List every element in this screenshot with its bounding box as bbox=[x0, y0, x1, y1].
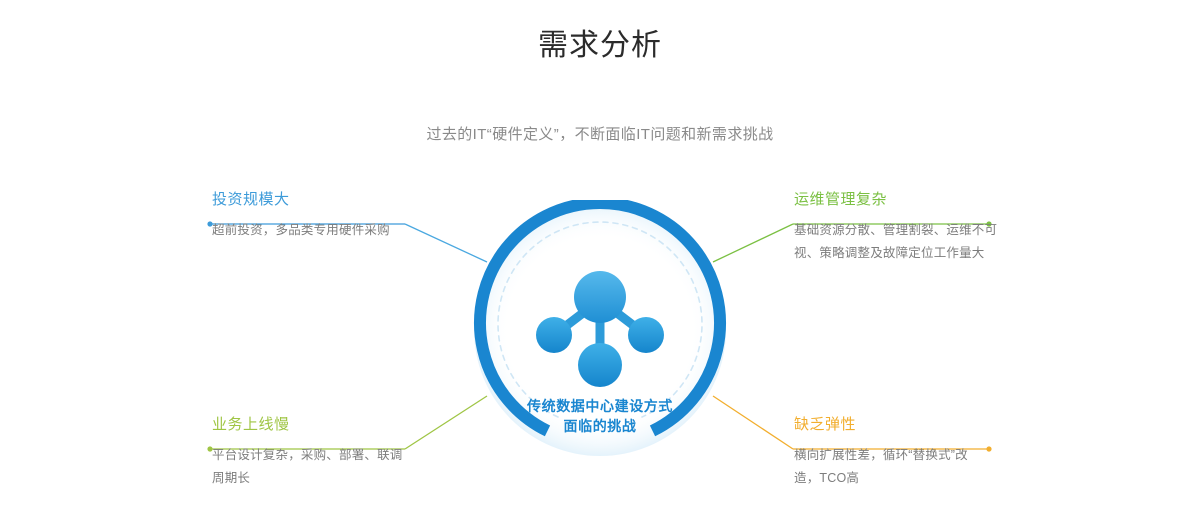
callout-investment-scale[interactable]: 投资规模大 超前投资，多品类专用硬件采购 bbox=[208, 190, 423, 242]
center-caption: 传统数据中心建设方式 面临的挑战 bbox=[470, 396, 730, 436]
callout-title-investment-scale: 投资规模大 bbox=[212, 190, 423, 210]
callout-desc-line: 周期长 bbox=[212, 467, 423, 490]
callout-title-slow-rollout: 业务上线慢 bbox=[212, 415, 423, 435]
callout-desc-line: 造，TCO高 bbox=[794, 467, 1005, 490]
callout-desc-line: 基础资源分散、管理割裂、运维不可 bbox=[794, 219, 1005, 242]
callout-desc-slow-rollout: 平台设计复杂，采购、部署、联调 周期长 bbox=[212, 444, 423, 490]
callout-desc-investment-scale: 超前投资，多品类专用硬件采购 bbox=[212, 219, 423, 242]
callout-ops-complexity[interactable]: 运维管理复杂 基础资源分散、管理割裂、运维不可 视、策略调整及故障定位工作量大 bbox=[790, 190, 1005, 265]
slide-canvas: 需求分析 过去的IT“硬件定义”，不断面临IT问题和新需求挑战 bbox=[0, 0, 1200, 519]
callout-desc-lack-elasticity: 横向扩展性差，循环“替换式”改 造，TCO高 bbox=[794, 444, 1005, 490]
callout-desc-line: 平台设计复杂，采购、部署、联调 bbox=[212, 444, 423, 467]
callout-lack-elasticity[interactable]: 缺乏弹性 横向扩展性差，循环“替换式”改 造，TCO高 bbox=[790, 415, 1005, 490]
callout-title-lack-elasticity: 缺乏弹性 bbox=[794, 415, 1005, 435]
callout-desc-line: 视、策略调整及故障定位工作量大 bbox=[794, 242, 1005, 265]
callout-slow-rollout[interactable]: 业务上线慢 平台设计复杂，采购、部署、联调 周期长 bbox=[208, 415, 423, 490]
page-title: 需求分析 bbox=[0, 26, 1200, 66]
callout-desc-line: 横向扩展性差，循环“替换式”改 bbox=[794, 444, 1005, 467]
callout-desc-line: 超前投资，多品类专用硬件采购 bbox=[212, 219, 423, 242]
callout-title-ops-complexity: 运维管理复杂 bbox=[794, 190, 1005, 210]
center-caption-line1: 传统数据中心建设方式 bbox=[470, 396, 730, 416]
page-subtitle: 过去的IT“硬件定义”，不断面临IT问题和新需求挑战 bbox=[0, 124, 1200, 146]
callout-desc-ops-complexity: 基础资源分散、管理割裂、运维不可 视、策略调整及故障定位工作量大 bbox=[794, 219, 1005, 265]
center-caption-line2: 面临的挑战 bbox=[470, 416, 730, 436]
